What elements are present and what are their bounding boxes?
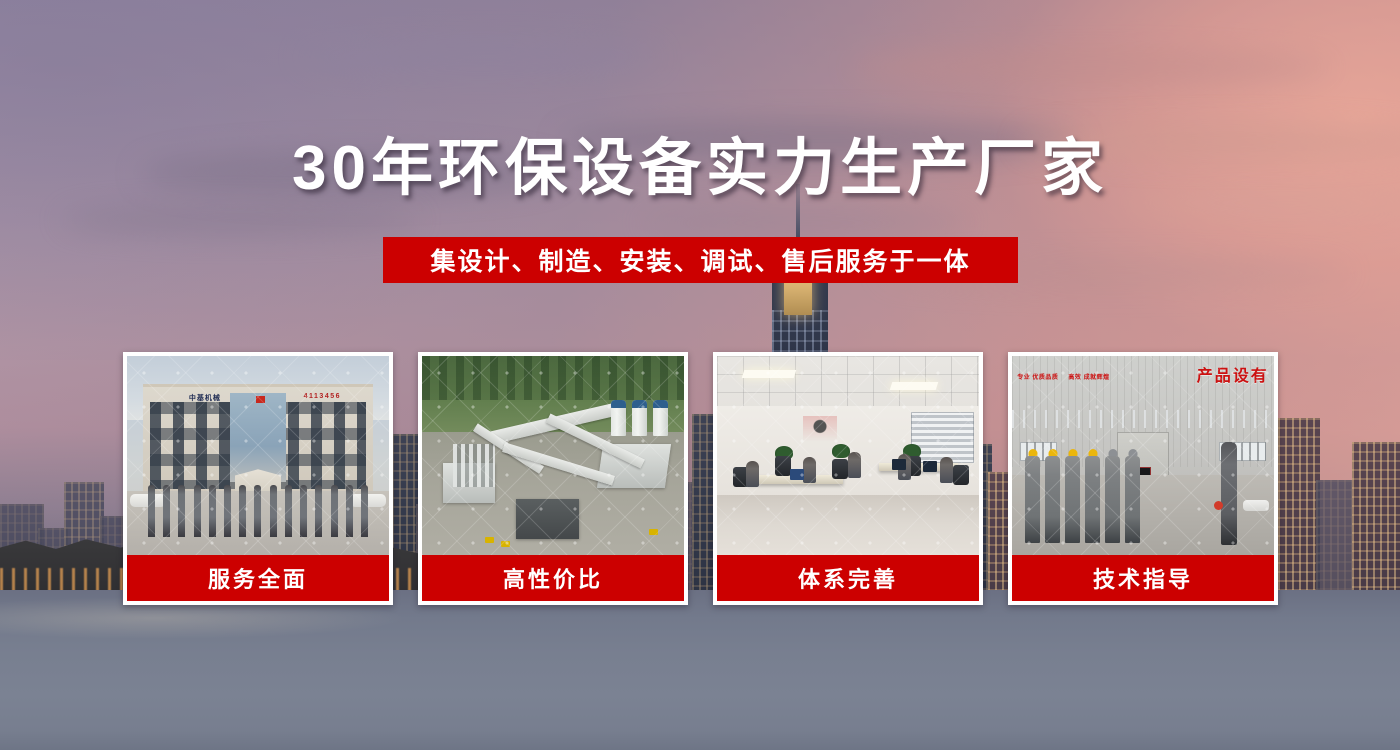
silo <box>632 400 647 436</box>
cloud <box>300 40 660 74</box>
card-photo-office <box>717 356 979 555</box>
card-label-system: 体系完善 <box>717 555 979 601</box>
building-phone-text: 4113456 <box>304 393 341 400</box>
office-worker <box>746 461 759 487</box>
office-chair <box>832 459 848 479</box>
flag-icon <box>256 396 265 403</box>
card-photo-headquarters: 中基机械 4113456 <box>127 356 389 555</box>
excavator <box>501 541 510 547</box>
computer-monitor <box>790 469 804 480</box>
cloud <box>60 205 420 235</box>
cloud <box>640 210 970 236</box>
page-title: 30年环保设备实力生产厂家 <box>0 134 1400 203</box>
silo <box>611 400 626 436</box>
computer-monitor <box>892 459 906 470</box>
staff-lineup <box>148 485 368 537</box>
card-label-service: 服务全面 <box>127 555 389 601</box>
worker-lineup <box>1025 444 1140 544</box>
supervisor <box>1221 442 1237 545</box>
office-worker <box>940 457 953 483</box>
computer-monitor <box>923 461 937 472</box>
card-photo-plant <box>422 356 684 555</box>
factory-slogan-signs: 专业 优质品质 高效 成就辉煌 <box>1017 374 1109 383</box>
building-sign-text: 中基机械 <box>189 393 221 403</box>
excavator <box>485 537 494 543</box>
ceiling-light <box>890 382 939 390</box>
card-label-value: 高性价比 <box>422 555 684 601</box>
feature-card-training[interactable]: 产品设有 专业 优质品质 高效 成就辉煌 技术指导 <box>1008 352 1278 605</box>
excavator <box>649 529 658 535</box>
subtitle-text: 集设计、制造、安装、调试、售后服务于一体 <box>430 242 970 278</box>
card-photo-workers: 产品设有 专业 优质品质 高效 成就辉煌 <box>1012 356 1274 555</box>
feature-card-value[interactable]: 高性价比 <box>418 352 688 605</box>
silo <box>653 400 668 436</box>
office-worker <box>803 457 816 483</box>
subtitle-banner: 集设计、制造、安装、调试、售后服务于一体 <box>383 237 1018 283</box>
office-chair <box>953 465 969 485</box>
hero-banner: 30年环保设备实力生产厂家 集设计、制造、安装、调试、售后服务于一体 中基机械 … <box>0 0 1400 750</box>
feature-card-list: 中基机械 4113456 服务全面 <box>123 352 1278 605</box>
cloud <box>850 48 1330 86</box>
wall-logo-icon <box>803 416 837 442</box>
car <box>1243 500 1269 511</box>
office-worker <box>848 452 861 478</box>
factory-big-sign-text: 产品设有 <box>1197 362 1269 386</box>
office-chair <box>775 456 791 476</box>
ceiling-light <box>742 370 797 378</box>
card-label-training: 技术指导 <box>1012 555 1274 601</box>
feature-card-service[interactable]: 中基机械 4113456 服务全面 <box>123 352 393 605</box>
factory-slogan-1: 专业 优质品质 <box>1017 374 1058 383</box>
factory-slogan-2: 高效 成就辉煌 <box>1068 374 1109 383</box>
window-blinds <box>911 412 974 464</box>
feature-card-system[interactable]: 体系完善 <box>713 352 983 605</box>
